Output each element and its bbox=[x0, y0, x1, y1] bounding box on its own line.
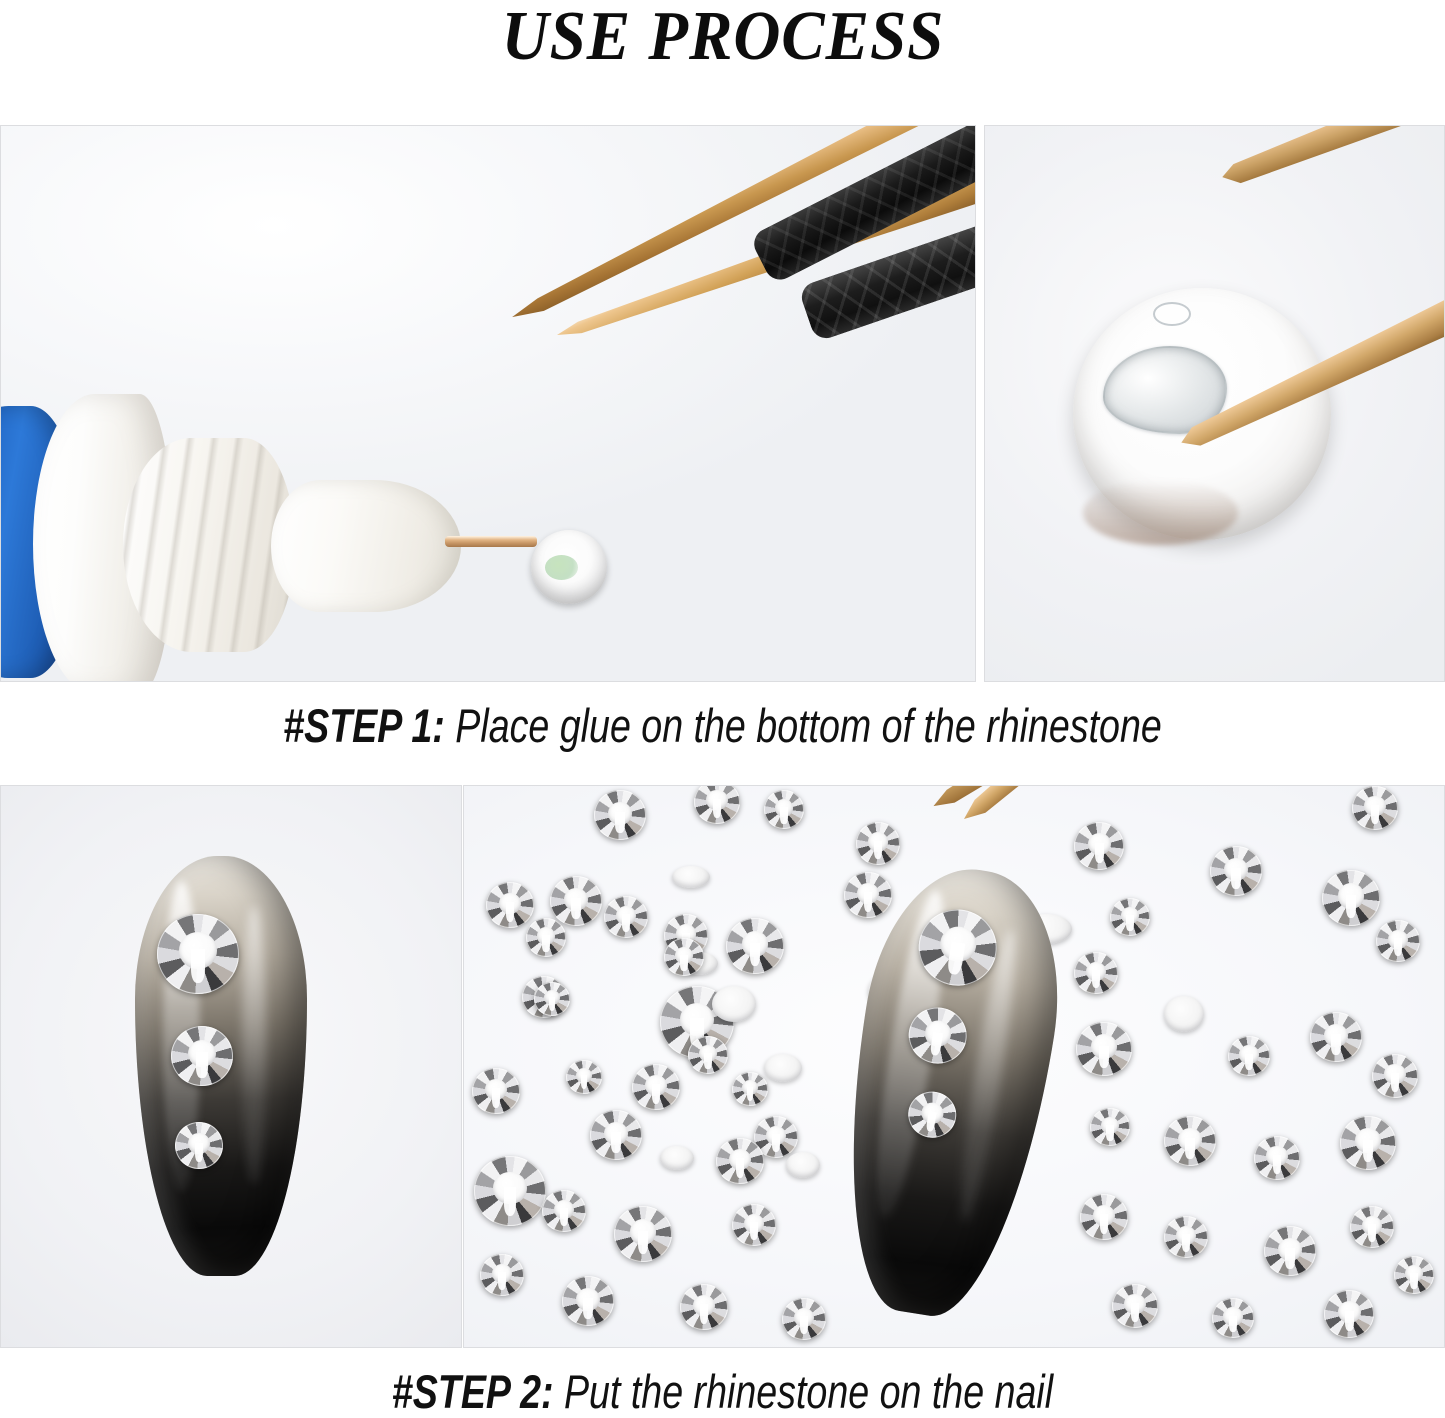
rhinestone bbox=[1164, 1216, 1208, 1258]
rhinestone bbox=[566, 1060, 602, 1094]
step-1-label: #STEP 1: bbox=[283, 699, 455, 752]
rhinestone bbox=[590, 1110, 642, 1160]
step-2-photo-placing-rhinestone bbox=[463, 785, 1445, 1348]
step-2-label: #STEP 2: bbox=[392, 1365, 564, 1418]
step-2-text: Put the rhinestone on the nail bbox=[564, 1365, 1053, 1418]
rhinestone-flat-back bbox=[660, 1146, 694, 1170]
rhinestone bbox=[732, 1204, 776, 1246]
rhinestone bbox=[632, 1064, 680, 1110]
rhinestone bbox=[1074, 822, 1124, 870]
rhinestone bbox=[1076, 1022, 1132, 1076]
rhinestone-rim bbox=[171, 1026, 233, 1086]
rhinestone bbox=[716, 1138, 764, 1184]
rhinestone bbox=[614, 1206, 672, 1262]
step-1-photo-rhinestone-flatback-closeup bbox=[984, 125, 1445, 682]
rhinestone bbox=[764, 790, 804, 829]
rhinestone bbox=[1074, 952, 1118, 994]
rhinestone bbox=[480, 1254, 524, 1296]
glue-bottle-ribbed-neck bbox=[123, 438, 295, 652]
step-2-caption: #STEP 2: Put the rhinestone on the nail bbox=[145, 1368, 1301, 1415]
rhinestone bbox=[1264, 1226, 1316, 1276]
rhinestone bbox=[664, 938, 704, 976]
page-title: USE PROCESS bbox=[501, 2, 944, 72]
rhinestone bbox=[1228, 1036, 1270, 1076]
rhinestone bbox=[1394, 1256, 1434, 1294]
rhinestone-flat-back bbox=[786, 1152, 820, 1178]
rhinestone-flat-back bbox=[1164, 996, 1204, 1032]
rhinestone bbox=[1210, 846, 1262, 896]
glue-bottle bbox=[0, 394, 201, 682]
rhinestone bbox=[1372, 1054, 1418, 1098]
rhinestone bbox=[526, 918, 566, 957]
step-1-caption: #STEP 1: Place glue on the bottom of the… bbox=[145, 702, 1301, 749]
rhinestone bbox=[474, 1156, 546, 1226]
rhinestone bbox=[1110, 898, 1150, 936]
rhinestone bbox=[1212, 1298, 1254, 1338]
rhinestone bbox=[1310, 1012, 1362, 1062]
rhinestone bbox=[157, 914, 239, 994]
rhinestone bbox=[1254, 1136, 1300, 1180]
rhinestone-rim bbox=[175, 1122, 223, 1169]
rhinestone-flat-back bbox=[1073, 288, 1331, 540]
rhinestone bbox=[472, 1068, 520, 1114]
rhinestone bbox=[175, 1122, 223, 1169]
rhinestone bbox=[1090, 1108, 1130, 1146]
rhinestone bbox=[1352, 786, 1398, 830]
step-1-text: Place glue on the bottom of the rhinesto… bbox=[455, 699, 1162, 752]
glue-bubble bbox=[1153, 302, 1191, 326]
rhinestone bbox=[782, 1298, 826, 1340]
rhinestone bbox=[531, 530, 607, 604]
nail-highlight-secondary bbox=[242, 906, 266, 1183]
rhinestone bbox=[1350, 1206, 1394, 1248]
rhinestone bbox=[680, 1284, 728, 1330]
page-header: USE PROCESS bbox=[0, 0, 1445, 118]
rhinestone-rim bbox=[157, 914, 239, 994]
rhinestone bbox=[1164, 1116, 1216, 1166]
rhinestone bbox=[171, 1026, 233, 1086]
rhinestone bbox=[486, 882, 534, 928]
rhinestone bbox=[1322, 870, 1380, 926]
rhinestone bbox=[534, 982, 570, 1016]
rhinestone bbox=[856, 822, 900, 865]
rhinestone bbox=[562, 1276, 614, 1326]
rhinestone bbox=[604, 896, 648, 938]
rhinestone bbox=[726, 918, 784, 974]
rhinestone-flat-back bbox=[764, 1054, 802, 1082]
rhinestone bbox=[732, 1072, 768, 1106]
rhinestone bbox=[1340, 1116, 1396, 1170]
rhinestone bbox=[1376, 920, 1420, 962]
rhinestone bbox=[542, 1190, 586, 1232]
rhinestone bbox=[1112, 1284, 1158, 1328]
rhinestone bbox=[550, 876, 602, 926]
step-2-photo-finished-nail bbox=[0, 785, 462, 1348]
rhinestone bbox=[1080, 1194, 1128, 1240]
rhinestone-flat-back bbox=[712, 986, 756, 1022]
rhinestone bbox=[844, 872, 892, 918]
glue-bottle-cone bbox=[271, 480, 461, 612]
step-1-photo-glue-applied-to-rhinestone bbox=[0, 125, 976, 682]
rhinestone-flat-back bbox=[672, 866, 710, 888]
rhinestone bbox=[1324, 1290, 1374, 1338]
rhinestone bbox=[594, 790, 646, 840]
glue-bottle-needle-tip bbox=[445, 536, 537, 547]
rhinestone bbox=[688, 1036, 728, 1074]
